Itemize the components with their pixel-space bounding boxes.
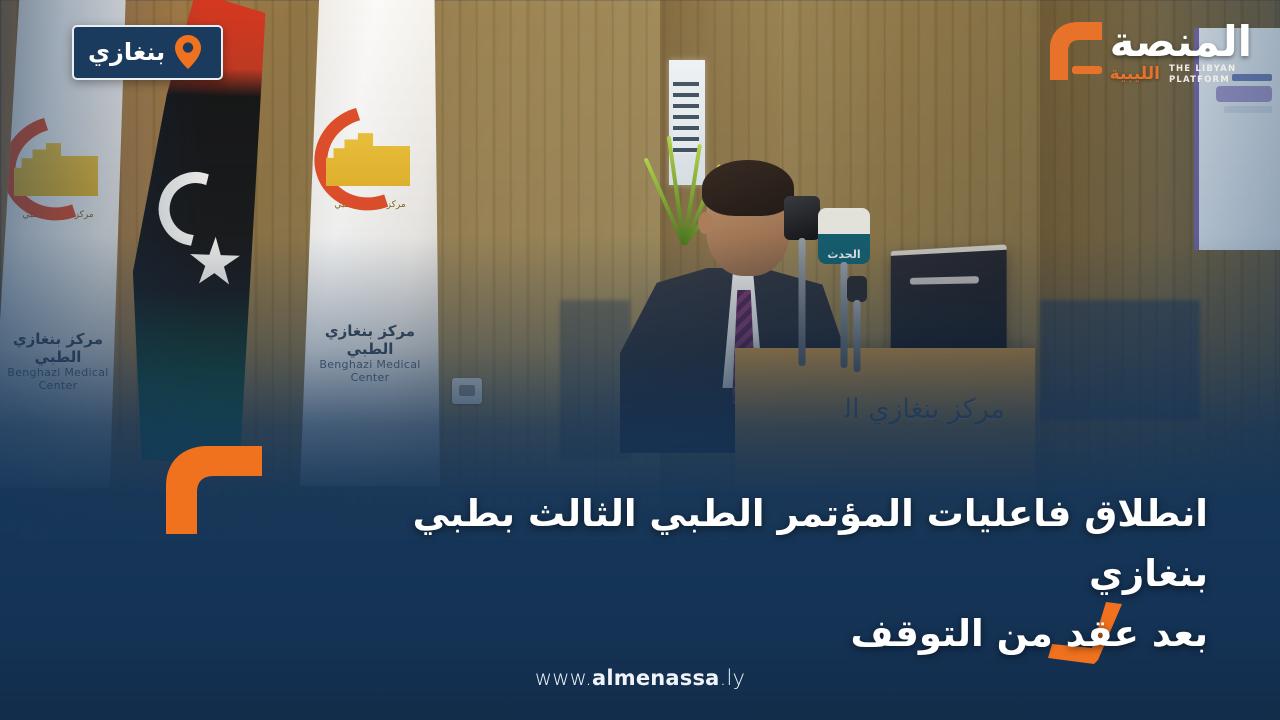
orange-bracket-top-icon: [166, 446, 262, 534]
map-pin-icon: [175, 35, 201, 69]
headline: انطلاق فاعليات المؤتمر الطبي الثالث بطبي…: [308, 484, 1208, 664]
headline-line-2: بعد عقد من التوقف: [308, 604, 1208, 664]
location-badge-label: بنغازي: [88, 40, 165, 64]
brand-logo-text: المنصة THE LIBYAN PLATFORM الليبية: [1110, 18, 1252, 85]
news-card: مركز بنغازي الطبي مركز بنغازي الطبي Beng…: [0, 0, 1280, 720]
website-url[interactable]: www.almenassa.ly: [0, 666, 1280, 690]
headline-line-1: انطلاق فاعليات المؤتمر الطبي الثالث بطبي…: [308, 484, 1208, 604]
url-prefix: www.: [535, 666, 592, 690]
brand-name-arabic: المنصة: [1110, 22, 1252, 62]
brand-name-english: THE LIBYAN PLATFORM: [1169, 64, 1236, 85]
location-badge[interactable]: بنغازي: [72, 25, 223, 80]
url-suffix: .ly: [720, 666, 746, 690]
url-brand: almenassa: [592, 666, 720, 690]
brand-hook-mark-icon: [1046, 18, 1106, 84]
brand-logo[interactable]: المنصة THE LIBYAN PLATFORM الليبية: [1046, 18, 1252, 85]
brand-subtitle-arabic: الليبية: [1110, 66, 1160, 83]
